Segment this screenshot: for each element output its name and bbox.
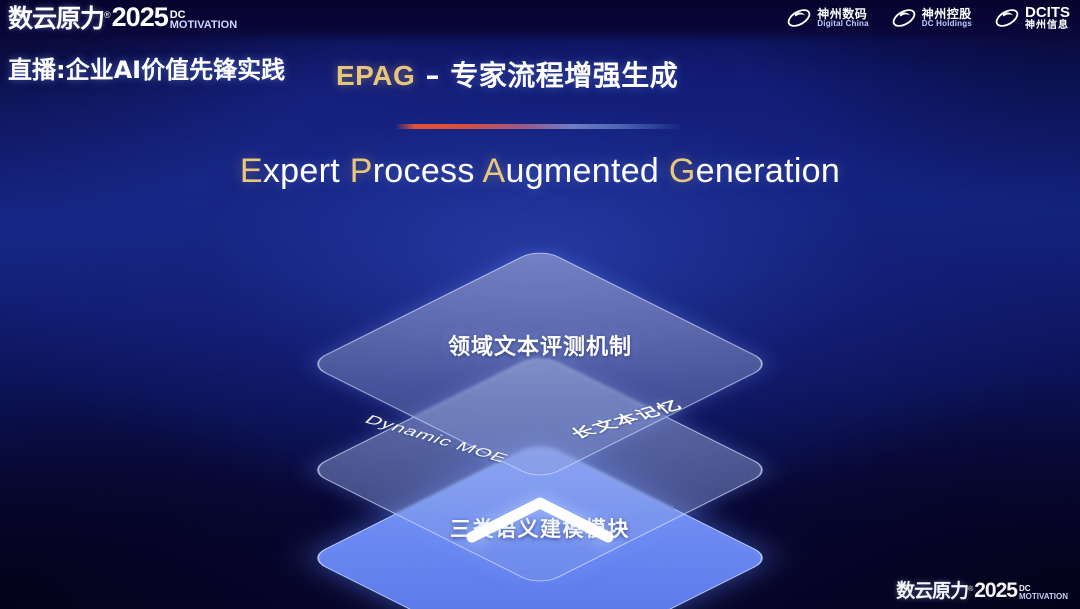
watermark-logo: 数云原力 ® 2025 DC MOTIVATION (896, 580, 1068, 601)
diagram-layer-top-label: 领域文本评测机制 (0, 329, 1080, 361)
watermark-registered-mark: ® (968, 586, 973, 593)
subtitle-initial-a: A (483, 152, 506, 190)
brand-registered-mark: ® (104, 11, 111, 20)
subtitle-rest-expert: xpert (263, 152, 340, 190)
partner-name-en: DC Holdings (922, 20, 972, 28)
subtitle-initial-g: G (669, 152, 696, 190)
subtitle-rest-augmented: ugmented (506, 152, 660, 190)
title-separator: – (415, 59, 450, 92)
title-acronym: EPAG (336, 60, 415, 91)
partner-label-digital-china: 神州数码 Digital China (817, 8, 869, 29)
brand-motivation-text: MOTIVATION (170, 20, 237, 30)
partner-name-en: Digital China (817, 20, 869, 28)
brand-dc-motivation: DC MOTIVATION (170, 10, 237, 30)
brand-logo: 数云原力 ® 2025 DC MOTIVATION (8, 4, 237, 31)
watermark-motivation-text: MOTIVATION (1019, 593, 1068, 600)
partner-logo-digital-china: 神州数码 Digital China (786, 5, 869, 31)
partner-label-dc-holdings: 神州控股 DC Holdings (922, 8, 972, 29)
page-title: EPAG – 专家流程增强生成 (336, 54, 678, 94)
partner-label-dcits: DCITS 神州信息 (1025, 5, 1070, 31)
watermark-dc-motivation: DC MOTIVATION (1019, 585, 1068, 600)
swirl-logo-icon (786, 5, 812, 31)
title-chinese: 专家流程增强生成 (450, 59, 678, 92)
partner-logo-group: 神州数码 Digital China 神州控股 DC Holdings (786, 5, 1070, 31)
gradient-divider (395, 124, 680, 129)
subtitle-rest-generation: eneration (696, 152, 840, 190)
chevron-up-icon (462, 493, 618, 545)
page-subtitle: Expert Process Augmented Generation (0, 152, 1080, 191)
live-stream-title: 直播:企业AI价值先锋实践 (8, 50, 285, 85)
brand-name-cn: 数云原力 (8, 6, 104, 31)
slide-canvas: 数云原力 ® 2025 DC MOTIVATION 直播:企业AI价值先锋实践 … (0, 0, 1080, 609)
subtitle-initial-p: P (350, 152, 373, 190)
subtitle-initial-e: E (240, 152, 263, 190)
layered-architecture-diagram: 三类语义建模模块 Dynamic MOE 长文本记忆 领域文本评测机制 (0, 225, 1080, 575)
partner-name-cn-secondary: 神州信息 (1025, 21, 1070, 32)
partner-logo-dc-holdings: 神州控股 DC Holdings (891, 5, 972, 31)
brand-year: 2025 (112, 4, 168, 31)
partner-logo-dcits: DCITS 神州信息 (994, 5, 1070, 31)
watermark-year: 2025 (974, 580, 1017, 601)
partner-name-en-primary: DCITS (1025, 5, 1070, 21)
watermark-name-cn: 数云原力 (896, 582, 968, 601)
swirl-logo-icon (891, 5, 917, 31)
subtitle-rest-process: rocess (373, 152, 475, 190)
swirl-logo-icon (994, 5, 1020, 31)
